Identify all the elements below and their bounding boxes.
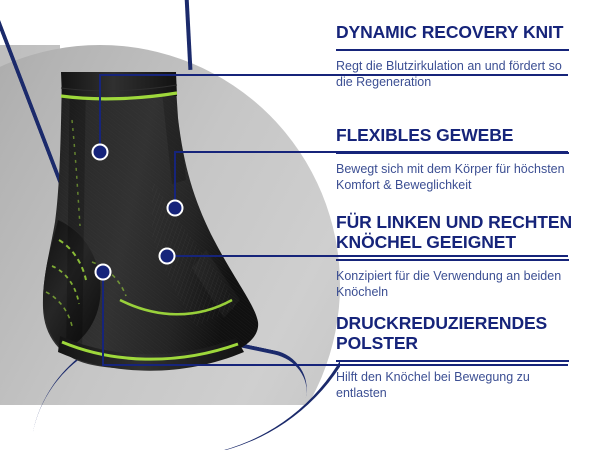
feature-title: DRUCKREDUZIERENDES POLSTER bbox=[336, 313, 580, 353]
callout-dot-2[interactable] bbox=[167, 200, 184, 217]
callout-dot-3[interactable] bbox=[159, 248, 176, 265]
callout-dot-1[interactable] bbox=[92, 144, 109, 161]
feature-description: Bewegt sich mit dem Körper für höchsten … bbox=[336, 161, 580, 193]
feature-block-knoechel-geeignet: FÜR LINKEN UND RECHTEN KNÖCHEL GEEIGNET … bbox=[336, 212, 580, 300]
feature-title: FÜR LINKEN UND RECHTEN KNÖCHEL GEEIGNET bbox=[336, 212, 580, 252]
feature-divider bbox=[336, 259, 569, 261]
feature-divider bbox=[336, 360, 569, 362]
feature-description: Regt die Blutzirkulation an und fördert … bbox=[336, 58, 580, 90]
product-feature-infographic: DYNAMIC RECOVERY KNIT Regt die Blutzirku… bbox=[0, 0, 600, 450]
feature-title: DYNAMIC RECOVERY KNIT bbox=[336, 22, 580, 42]
feature-block-flexibles-gewebe: FLEXIBLES GEWEBE Bewegt sich mit dem Kör… bbox=[336, 125, 580, 193]
feature-divider bbox=[336, 49, 569, 51]
feature-text-column: DYNAMIC RECOVERY KNIT Regt die Blutzirku… bbox=[336, 0, 584, 450]
feature-title: FLEXIBLES GEWEBE bbox=[336, 125, 580, 145]
feature-block-druckreduzierendes-polster: DRUCKREDUZIERENDES POLSTER Hilft den Knö… bbox=[336, 313, 580, 401]
feature-description: Hilft den Knöchel bei Bewegung zu entlas… bbox=[336, 369, 580, 401]
feature-description: Konzipiert für die Verwendung an beiden … bbox=[336, 268, 580, 300]
feature-divider bbox=[336, 152, 569, 154]
feature-block-dynamic-recovery-knit: DYNAMIC RECOVERY KNIT Regt die Blutzirku… bbox=[336, 22, 580, 90]
callout-dot-4[interactable] bbox=[95, 264, 112, 281]
